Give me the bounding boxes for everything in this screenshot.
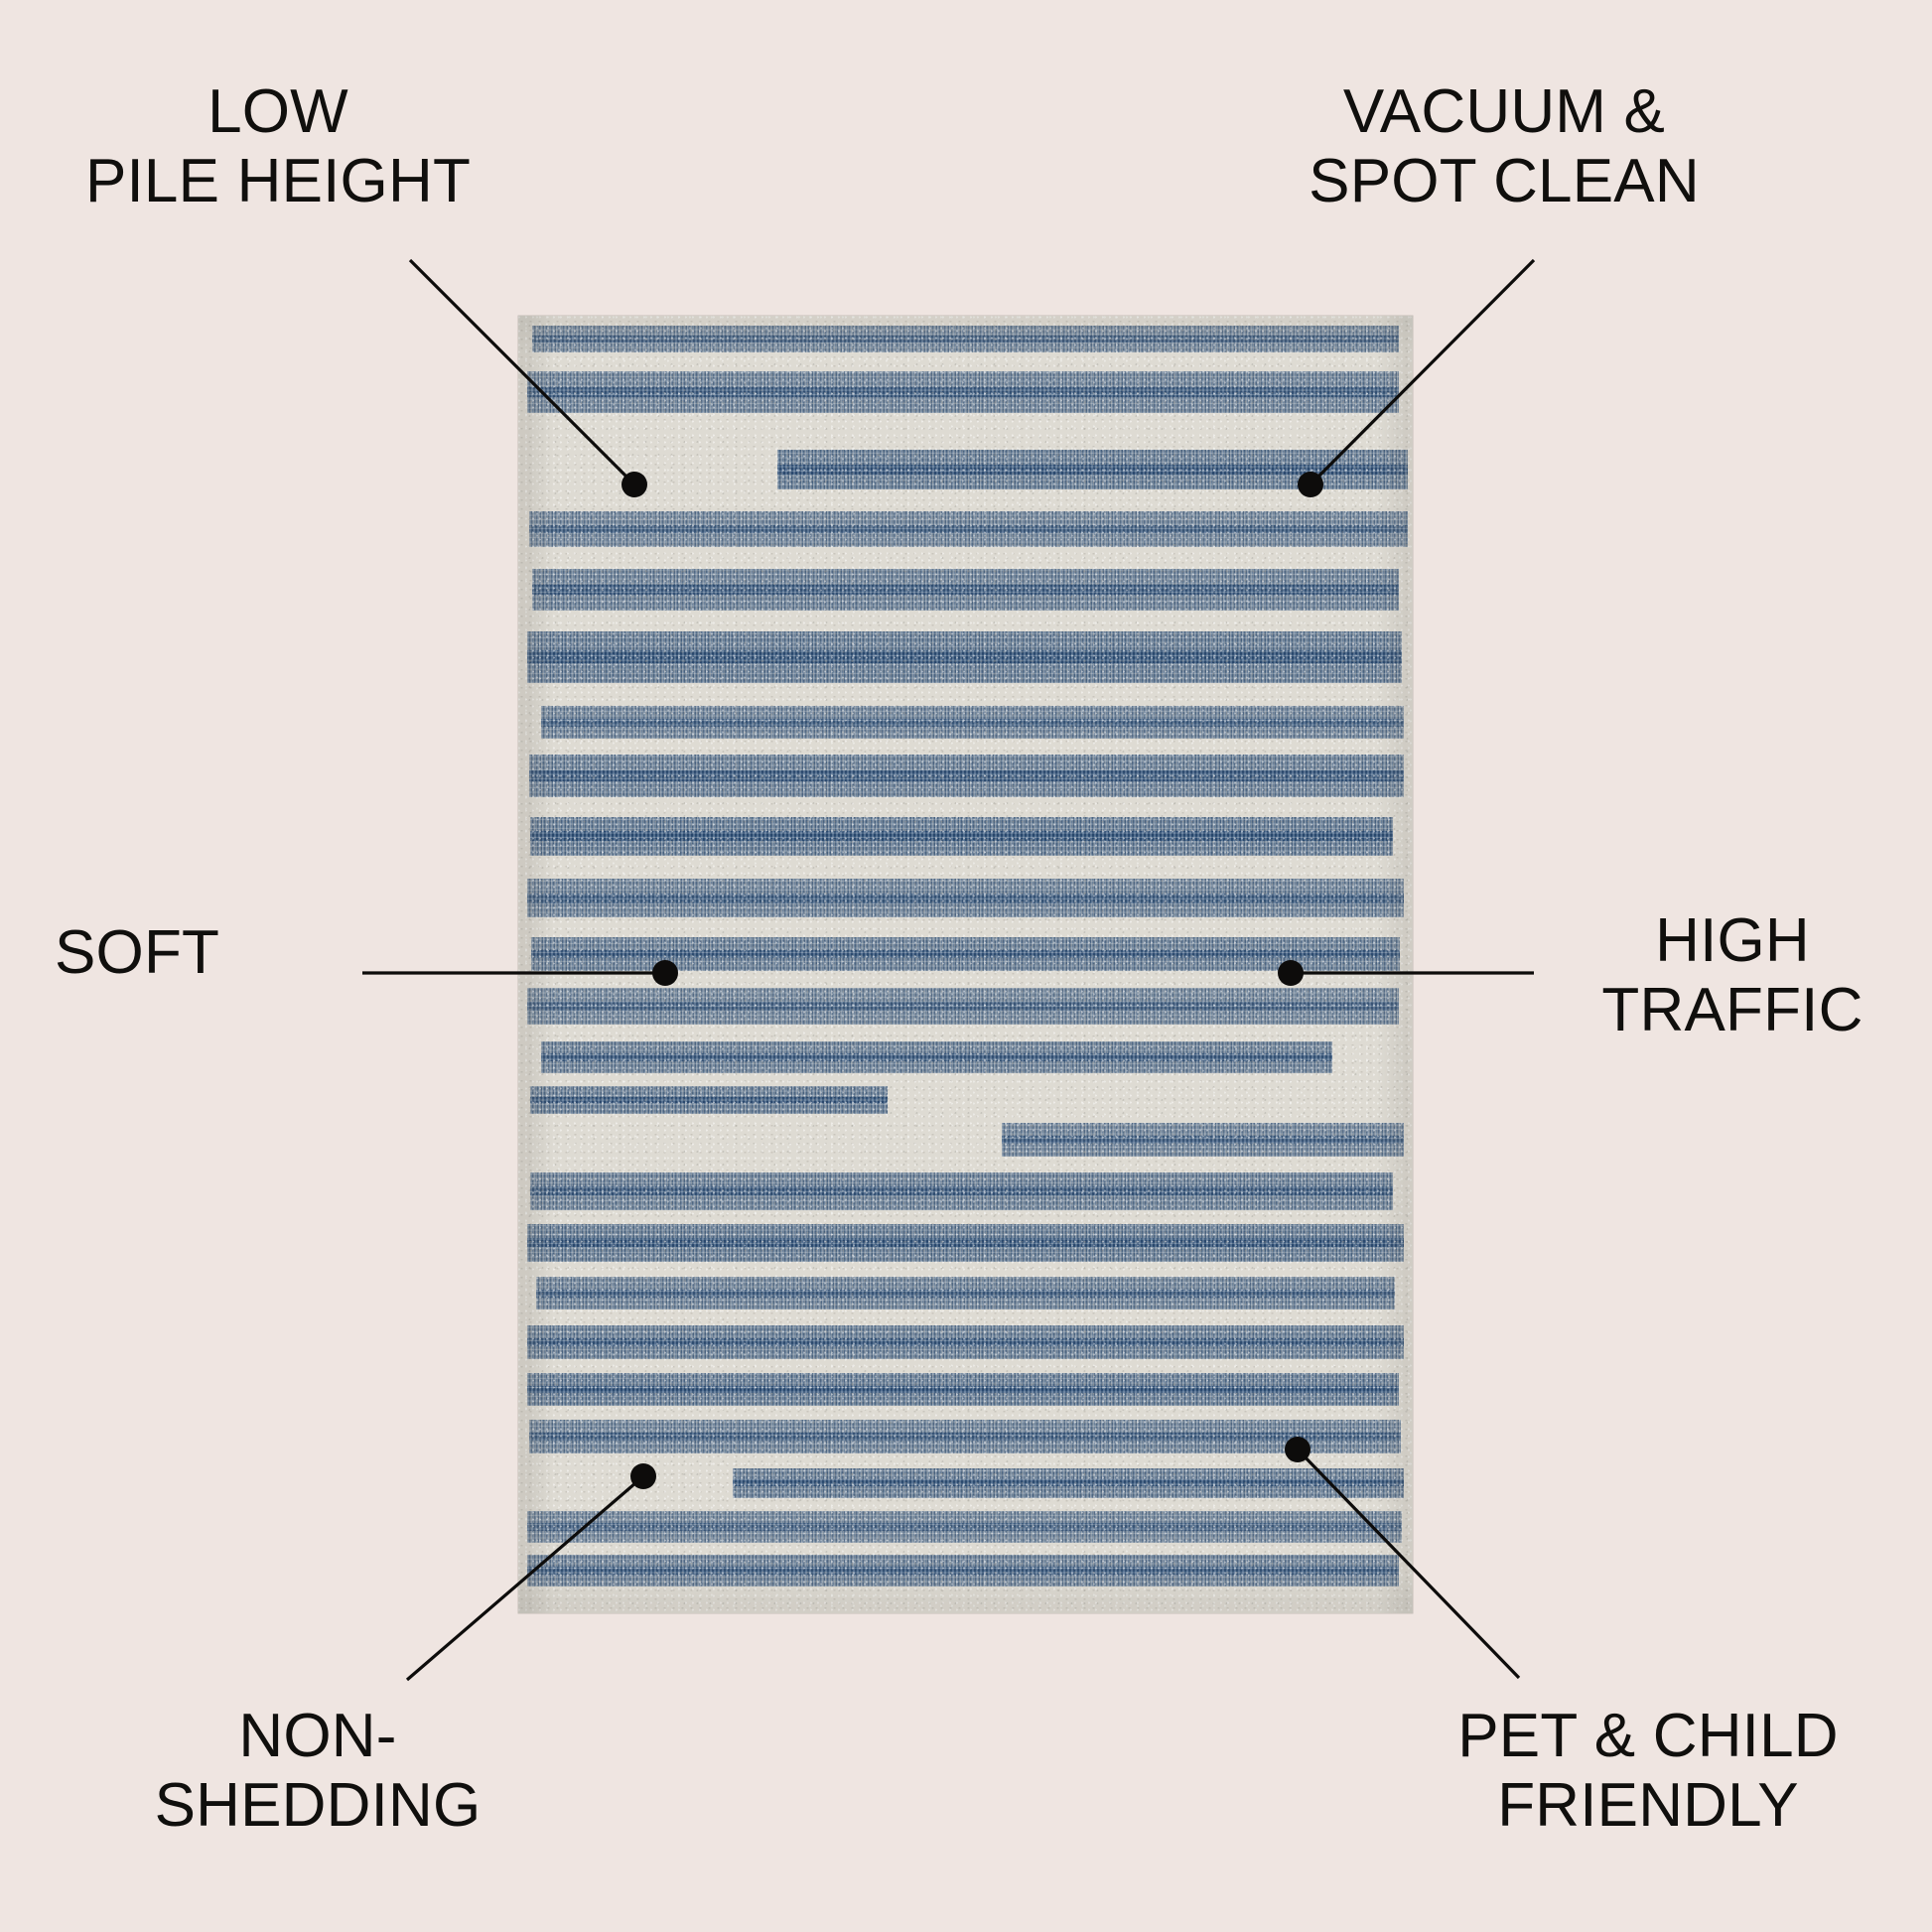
rug-stripe — [541, 1041, 1332, 1074]
rug-stripe — [527, 1555, 1399, 1586]
rug-stripe — [777, 450, 1408, 490]
rug-stripe — [527, 1511, 1402, 1544]
rug-stripe — [733, 1468, 1404, 1498]
feature-label-vacuum-spot-clean: VACUUM & SPOT CLEAN — [1112, 77, 1896, 216]
rug-stripe — [527, 879, 1404, 917]
feature-label-pet-child-friendly: PET & CHILD FRIENDLY — [1390, 1702, 1906, 1841]
rug-stripe — [531, 937, 1401, 971]
rug-stripe — [527, 371, 1399, 413]
rug-stripe — [530, 817, 1393, 856]
rug-stripe — [527, 1325, 1404, 1359]
rug-stripe — [1002, 1123, 1404, 1157]
rug-stripe — [532, 569, 1400, 611]
infographic-canvas: LOW PILE HEIGHT VACUUM & SPOT CLEAN SOFT… — [0, 0, 1932, 1932]
rug-stripe — [529, 1420, 1401, 1453]
feature-label-soft: SOFT — [55, 918, 273, 988]
rug-stripe — [536, 1277, 1395, 1310]
rug-stripe — [532, 326, 1400, 351]
rug-stripe — [529, 511, 1408, 546]
rug-stripe — [527, 631, 1402, 683]
rug-stripe — [529, 755, 1404, 797]
feature-label-low-pile-height: LOW PILE HEIGHT — [0, 77, 556, 216]
feature-label-non-shedding: NON- SHEDDING — [40, 1702, 596, 1841]
feature-label-high-traffic: HIGH TRAFFIC — [1559, 906, 1906, 1045]
rug-stripe — [530, 1173, 1393, 1210]
rug-product-image — [518, 316, 1413, 1613]
rug-stripe — [530, 1086, 888, 1113]
rug-stripe — [527, 1373, 1399, 1406]
rug-stripe — [527, 988, 1399, 1025]
rug-stripe — [527, 1224, 1404, 1262]
rug-stripe — [541, 706, 1404, 739]
